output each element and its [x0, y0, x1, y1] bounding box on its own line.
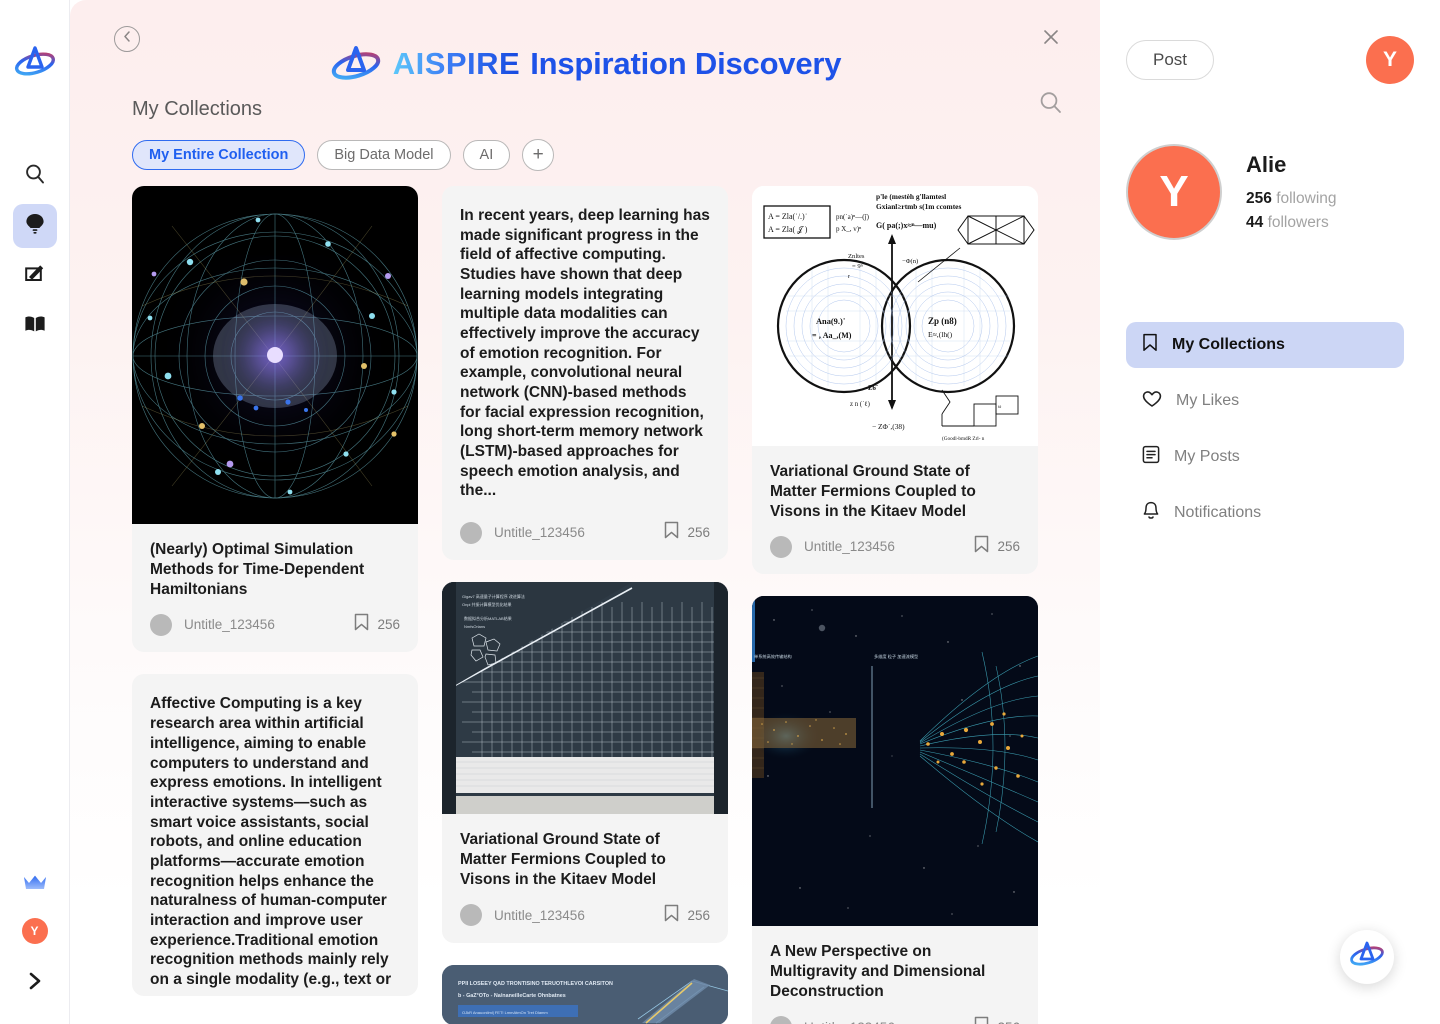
brand-subtitle: Inspiration Discovery [530, 46, 841, 82]
avatar[interactable]: Y [1126, 144, 1222, 240]
avatar [460, 522, 482, 544]
svg-text:Ana(9.)˙: Ana(9.)˙ [816, 317, 846, 326]
card-bookmark[interactable]: 256 [974, 1016, 1020, 1024]
card-author: Untitle_123456 [770, 536, 895, 558]
right-top-bar: Post Y [1100, 0, 1440, 84]
card-item[interactable]: Affective Computing is a key research ar… [132, 674, 418, 995]
bookmark-icon [1142, 333, 1158, 357]
card-bookmark[interactable]: 256 [664, 521, 710, 544]
svg-text:A = Zla(˙/.)˙: A = Zla(˙/.)˙ [768, 212, 807, 221]
crown-icon[interactable] [22, 873, 48, 898]
heart-icon [1142, 389, 1162, 413]
sidebar-item-write[interactable] [13, 254, 57, 298]
card-item[interactable]: A = Zla(˙/.)˙ A = Zla( 𝒥 ) pn(˙a)ⁿ—(ǰ) p… [752, 186, 1038, 574]
svg-text:单系统高效传输结构: 单系统高效传输结构 [754, 653, 792, 660]
svg-text:z n (˙ℓ): z n (˙ℓ) [850, 401, 870, 408]
bookmark-count: 256 [997, 539, 1020, 554]
svg-text:pn(˙a)ⁿ—(ǰ): pn(˙a)ⁿ—(ǰ) [836, 213, 870, 221]
svg-text:= ‚ Aa_,(M): = ‚ Aa_,(M) [812, 331, 852, 340]
chip-ai[interactable]: AI [463, 140, 511, 170]
svg-text:Z6˙: Z6˙ [868, 385, 878, 392]
rail-bottom: Y [18, 873, 52, 1010]
card-meta: Untitle_123456 256 [132, 599, 418, 652]
page-title: My Collections [132, 98, 1064, 121]
svg-text:数据拟合分析MATLAB结果: 数据拟合分析MATLAB结果 [464, 615, 512, 621]
section-row: My Collections [70, 98, 1100, 121]
card-bookmark[interactable]: 256 [664, 904, 710, 927]
card-author-name: Untitle_123456 [804, 539, 895, 554]
card-title: A New Perspective on Multigravity and Di… [770, 942, 1020, 1001]
bookmark-icon [664, 521, 679, 544]
avatar [770, 536, 792, 558]
bookmark-count: 256 [997, 1020, 1020, 1024]
svg-text:OJkR Anauonilml| FET! LmmAtmOn: OJkR Anauonilml| FET! LmmAtmOn Tret Dlam… [462, 1010, 548, 1015]
following-label: following [1276, 190, 1336, 207]
svg-text:p X_, v)ⁿ: p X_, v)ⁿ [836, 225, 862, 233]
card-author: Untitle_123456 [770, 1016, 895, 1024]
svg-text:多维度 粒子 加速流模型: 多维度 粒子 加速流模型 [874, 653, 918, 660]
nav-label: Notifications [1174, 504, 1261, 522]
nav-label: My Likes [1176, 392, 1239, 410]
brand-title: AISPIRE Inspiration Discovery [70, 42, 1100, 86]
card-excerpt: In recent years, deep learning has made … [442, 186, 728, 507]
nav-item-my-posts[interactable]: My Posts [1126, 434, 1404, 480]
avatar [460, 904, 482, 926]
svg-text:NmfsOrians: NmfsOrians [464, 624, 485, 629]
card-author-name: Untitle_123456 [494, 525, 585, 540]
right-panel: Post Y Y Alie 256 following 44 followers [1100, 0, 1440, 1024]
sidebar-item-search[interactable] [13, 154, 57, 198]
profile-info: Alie 256 following 44 followers [1246, 152, 1337, 232]
bookmark-count: 256 [377, 617, 400, 632]
card-author-name: Untitle_123456 [804, 1020, 895, 1024]
aispire-logo-icon[interactable] [12, 40, 58, 86]
brand-wordmark: AISPIRE [393, 46, 521, 82]
svg-text:Gxianl≥rtmb s(1m ccomtes: Gxianl≥rtmb s(1m ccomtes [876, 202, 961, 211]
svg-text:PPII LOSEEY QAD TRONTISINO TER: PPII LOSEEY QAD TRONTISINO TERUOTHLEVOI … [458, 981, 613, 987]
svg-text:(Goodl-bmdR Zrl- n: (Goodl-bmdR Zrl- n [942, 435, 985, 442]
following-count: 256 [1246, 190, 1272, 207]
grid-column-1: (Nearly) Optimal Simulation Methods for … [132, 186, 418, 996]
book-icon [24, 315, 46, 338]
card-bookmark[interactable]: 256 [354, 613, 400, 636]
avatar [150, 614, 172, 636]
card-meta: Untitle_123456 256 [442, 890, 728, 943]
add-collection-button[interactable]: + [522, 139, 554, 171]
card-author: Untitle_123456 [150, 614, 275, 636]
bookmark-icon [974, 535, 989, 558]
sidebar-item-inspiration[interactable] [13, 204, 57, 248]
edit-icon [24, 263, 46, 290]
nav-label: My Collections [1172, 336, 1285, 354]
bookmark-count: 256 [687, 908, 710, 923]
search-icon [1038, 103, 1064, 120]
following-stat[interactable]: 256 following [1246, 190, 1337, 208]
svg-text:E≈,(lh(): E≈,(lh() [928, 330, 953, 339]
card-item[interactable]: In recent years, deep learning has made … [442, 186, 728, 560]
svg-text:= 9ⁿ: = 9ⁿ [852, 263, 863, 270]
card-item[interactable]: PPII LOSEEY QAD TRONTISINO TERUOTHLEVOI … [442, 965, 728, 1024]
rail-nav [13, 154, 57, 348]
card-title: Variational Ground State of Matter Fermi… [460, 830, 710, 889]
card-item[interactable]: Gigav7 高速量子计算程序 改进算法 Onpi 共振计算模型优化结果 数据拟… [442, 582, 728, 942]
bookmark-count: 256 [687, 525, 710, 540]
followers-count: 44 [1246, 214, 1263, 231]
collection-grid: (Nearly) Optimal Simulation Methods for … [70, 186, 1100, 1024]
profile-block: Y Alie 256 following 44 followers [1100, 84, 1440, 240]
card-author-name: Untitle_123456 [494, 908, 585, 923]
nav-item-my-collections[interactable]: My Collections [1126, 322, 1404, 368]
svg-text:Onpi 共振计算模型优化结果: Onpi 共振计算模型优化结果 [462, 601, 512, 607]
grid-column-2: In recent years, deep learning has made … [442, 186, 728, 1024]
svg-text:A = Zla( 𝒥 ): A = Zla( 𝒥 ) [768, 225, 808, 234]
card-author-name: Untitle_123456 [184, 617, 275, 632]
followers-label: followers [1268, 214, 1329, 231]
svg-text:r: r [848, 274, 850, 280]
svg-text:Zp (n8): Zp (n8) [928, 316, 957, 326]
card-meta: Untitle_123456 256 [752, 521, 1038, 574]
list-icon [1142, 445, 1160, 469]
svg-text:G( pa(;)x≈ⁿ—mu): G( pa(;)x≈ⁿ—mu) [876, 221, 937, 230]
app-root: Y [0, 0, 1440, 1024]
bookmark-icon [974, 1016, 989, 1024]
svg-text:p'le (mestèh g'llamtesl: p'le (mestèh g'llamtesl [876, 192, 946, 201]
nav-item-notifications[interactable]: Notifications [1126, 490, 1404, 536]
aispire-logo-icon [329, 42, 383, 86]
header-avatar[interactable]: Y [1366, 36, 1414, 84]
bookmark-icon [664, 904, 679, 927]
rail-avatar[interactable]: Y [22, 918, 48, 944]
card-title-block: (Nearly) Optimal Simulation Methods for … [132, 524, 418, 599]
bookmark-icon [354, 613, 369, 636]
svg-text:− ZΦ˙,(38): − ZΦ˙,(38) [872, 422, 905, 431]
floating-logo-button[interactable] [1340, 930, 1394, 984]
avatar [770, 1016, 792, 1024]
card-meta: Untitle_123456 256 [752, 1002, 1038, 1024]
card-image-sphere-network [132, 186, 418, 524]
chip-my-entire-collection[interactable]: My Entire Collection [132, 140, 305, 170]
profile-name: Alie [1246, 152, 1337, 178]
card-author: Untitle_123456 [460, 522, 585, 544]
card-title-block: A New Perspective on Multigravity and Di… [752, 926, 1038, 1001]
card-title: Variational Ground State of Matter Fermi… [770, 462, 1020, 521]
card-item[interactable]: (Nearly) Optimal Simulation Methods for … [132, 186, 418, 652]
card-image-slide: PPII LOSEEY QAD TRONTISINO TERUOTHLEVOI … [442, 965, 728, 1024]
svg-text:Gigav7 高速量子计算程序 改进算法: Gigav7 高速量子计算程序 改进算法 [462, 593, 525, 599]
chevron-right-icon[interactable] [18, 964, 52, 998]
nav-label: My Posts [1174, 448, 1240, 466]
card-title-block: Variational Ground State of Matter Fermi… [442, 814, 728, 889]
svg-text:−Φ(n): −Φ(n) [902, 258, 918, 265]
card-author: Untitle_123456 [460, 904, 585, 926]
grid-column-3: A = Zla(˙/.)˙ A = Zla( 𝒥 ) pn(˙a)ⁿ—(ǰ) p… [752, 186, 1038, 1024]
card-image-space-particles: 单系统高效传输结构 多维度 粒子 加速流模型 [752, 596, 1038, 926]
card-title-block: Variational Ground State of Matter Fermi… [752, 446, 1038, 521]
left-rail: Y [0, 0, 70, 1024]
card-meta: Untitle_123456 256 [442, 507, 728, 560]
card-item[interactable]: 单系统高效传输结构 多维度 粒子 加速流模型 A New Perspective… [752, 596, 1038, 1024]
search-icon [24, 163, 46, 190]
lightbulb-icon [24, 212, 46, 241]
card-bookmark[interactable]: 256 [974, 535, 1020, 558]
discovery-panel: AISPIRE Inspiration Discovery My Collect… [70, 0, 1100, 1024]
card-excerpt: Affective Computing is a key research ar… [132, 674, 418, 995]
sidebar-item-library[interactable] [13, 304, 57, 348]
aispire-logo-icon [1348, 939, 1386, 976]
svg-text:Znltes: Znltes [848, 253, 865, 260]
followers-stat[interactable]: 44 followers [1246, 214, 1337, 232]
svg-text:b - GaZ°OTo - Na/naneilleCarte: b - GaZ°OTo - Na/naneilleCarte Ohnbatnes [458, 993, 566, 999]
nav-item-my-likes[interactable]: My Likes [1126, 378, 1404, 424]
post-button[interactable]: Post [1126, 40, 1214, 80]
card-title: (Nearly) Optimal Simulation Methods for … [150, 540, 400, 599]
right-nav: My Collections My Likes My Posts Notific… [1100, 322, 1440, 536]
search-button[interactable] [1038, 90, 1064, 121]
card-image-grid-texture: Gigav7 高速量子计算程序 改进算法 Onpi 共振计算模型优化结果 数据拟… [442, 582, 728, 814]
image-glow [267, 347, 283, 363]
bell-icon [1142, 501, 1160, 526]
card-image-physics-diagram: A = Zla(˙/.)˙ A = Zla( 𝒥 ) pn(˙a)ⁿ—(ǰ) p… [752, 186, 1038, 446]
chip-big-data-model[interactable]: Big Data Model [317, 140, 450, 170]
